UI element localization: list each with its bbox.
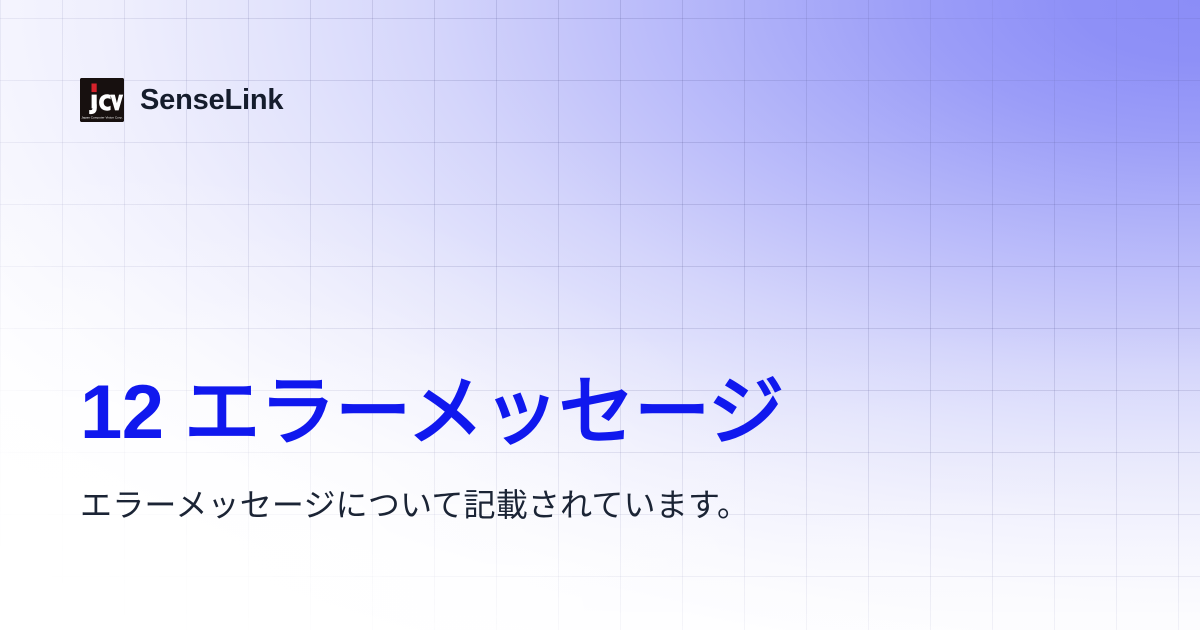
- logo-tagline-text: Japan Computer Vision Corp.: [81, 115, 122, 119]
- brand-lockup: Japan Computer Vision Corp. SenseLink: [80, 78, 283, 122]
- jcv-logo-icon: Japan Computer Vision Corp.: [80, 78, 124, 122]
- page-title: 12 エラーメッセージ: [80, 372, 1120, 454]
- og-card: Japan Computer Vision Corp. SenseLink 12…: [0, 0, 1200, 630]
- page-subtitle: エラーメッセージについて記載されています。: [80, 484, 1120, 527]
- brand-name: SenseLink: [140, 86, 283, 115]
- card-content: Japan Computer Vision Corp. SenseLink 12…: [0, 0, 1200, 630]
- hero-text-block: 12 エラーメッセージ エラーメッセージについて記載されています。: [80, 372, 1120, 527]
